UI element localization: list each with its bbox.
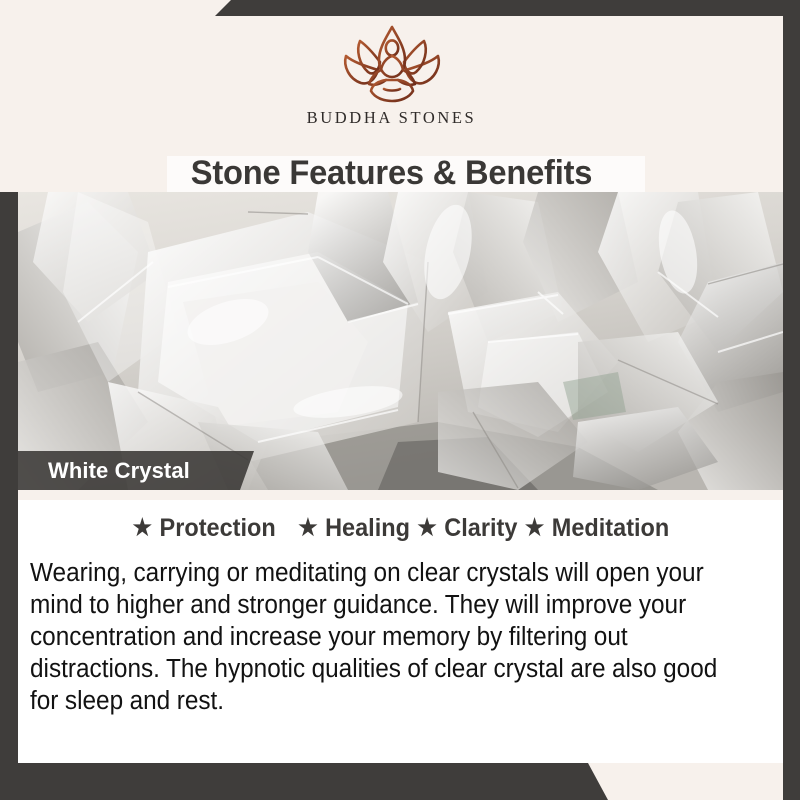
- frame-top-bar: [0, 0, 800, 16]
- description-text: Wearing, carrying or meditating on clear…: [30, 557, 740, 717]
- star-icon: ★: [416, 514, 437, 540]
- photo-caption-banner: White Crystal: [18, 451, 254, 490]
- brand-name: BUDDHA STONES: [307, 108, 477, 128]
- frame-bottom-bar: [0, 763, 800, 800]
- frame-left-bar: [0, 192, 18, 784]
- benefit-item-clarity: Clarity: [444, 514, 517, 542]
- brand-logo: BUDDHA STONES: [0, 22, 783, 128]
- benefit-item-meditation: Meditation: [552, 514, 670, 542]
- benefit-item-protection: Protection: [160, 514, 276, 542]
- benefits-list: ★ Protection ★ Healing ★ Clarity ★ Medit…: [41, 500, 760, 543]
- benefit-item-healing: Healing: [325, 514, 410, 542]
- star-icon: ★: [132, 514, 153, 540]
- crystal-cluster-image: [18, 192, 783, 490]
- poster-header: BUDDHA STONES Stone Features & Benefits: [0, 16, 783, 192]
- product-info-poster: BUDDHA STONES Stone Features & Benefits: [0, 0, 800, 800]
- frame-right-bar: [783, 0, 800, 800]
- star-icon: ★: [297, 514, 318, 540]
- content-panel: ★ Protection ★ Healing ★ Clarity ★ Medit…: [18, 500, 783, 763]
- page-title: Stone Features & Benefits: [16, 154, 768, 193]
- lotus-meditation-figure-icon: [331, 22, 453, 106]
- product-photo: [18, 192, 783, 490]
- photo-content-seam: [18, 490, 783, 500]
- star-icon: ★: [524, 514, 545, 540]
- photo-caption-text: White Crystal: [18, 458, 190, 484]
